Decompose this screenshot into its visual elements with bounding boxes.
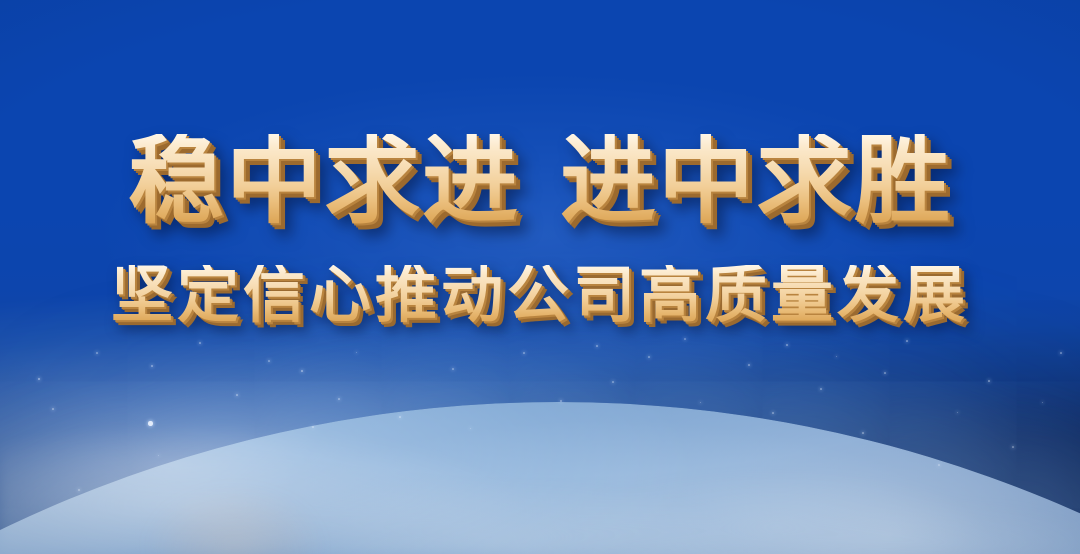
atmospheric-haze <box>0 0 1080 554</box>
hero-banner: 稳中求进 进中求胜 坚定信心推动公司高质量发展 <box>0 0 1080 554</box>
